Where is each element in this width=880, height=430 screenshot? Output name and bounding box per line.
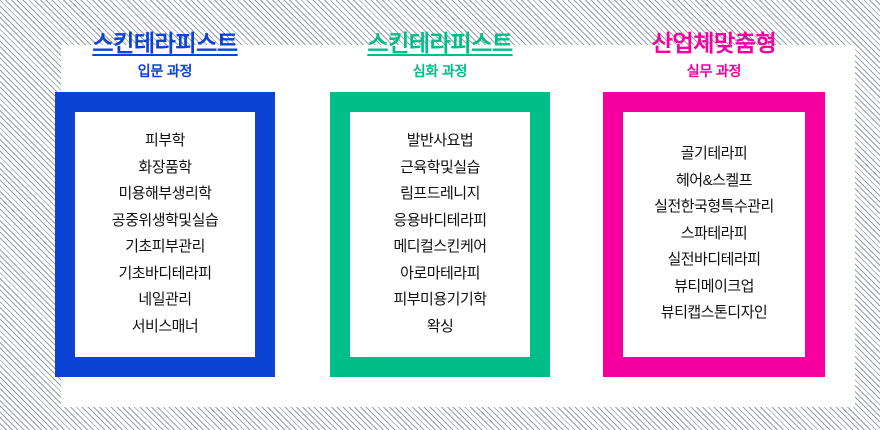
course-box: 피부학 화장품학 미용해부생리학 공중위생학및실습 기초피부관리 기초바디테라피… (55, 92, 275, 377)
course-item: 피부학 (75, 128, 255, 155)
course-item: 뷰티캡스톤디자인 (623, 300, 805, 327)
course-item: 왁싱 (350, 314, 530, 341)
course-item: 림프드레니지 (350, 181, 530, 208)
course-item: 서비스매너 (75, 314, 255, 341)
course-item: 화장품학 (75, 155, 255, 182)
course-item: 미용해부생리학 (75, 181, 255, 208)
course-item: 메디컬스킨케어 (350, 234, 530, 261)
curriculum-column-skin-therapist-advanced: 스킨테라피스트 심화 과정 발반사요법 근육학및실습 림프드레니지 응용바디테라… (330, 0, 550, 377)
column-subtitle: 심화 과정 (413, 63, 467, 80)
course-item: 응용바디테라피 (350, 208, 530, 235)
course-item: 네일관리 (75, 287, 255, 314)
course-box: 발반사요법 근육학및실습 림프드레니지 응용바디테라피 메디컬스킨케어 아로마테… (330, 92, 550, 377)
course-box: 골기테라피 헤어&스켈프 실전한국형특수관리 스파테라피 실전바디테라피 뷰티메… (603, 92, 825, 377)
column-title: 스킨테라피스트 (92, 31, 237, 57)
curriculum-columns: 스킨테라피스트 입문 과정 피부학 화장품학 미용해부생리학 공중위생학및실습 … (0, 0, 880, 430)
course-item: 실전한국형특수관리 (623, 194, 805, 221)
course-item: 실전바디테라피 (623, 247, 805, 274)
course-item: 스파테라피 (623, 221, 805, 248)
column-subtitle: 입문 과정 (138, 63, 192, 80)
course-list: 골기테라피 헤어&스켈프 실전한국형특수관리 스파테라피 실전바디테라피 뷰티메… (623, 141, 805, 327)
course-item: 기초피부관리 (75, 234, 255, 261)
course-item: 발반사요법 (350, 128, 530, 155)
course-item: 근육학및실습 (350, 155, 530, 182)
course-item: 피부미용기기학 (350, 287, 530, 314)
course-list: 발반사요법 근육학및실습 림프드레니지 응용바디테라피 메디컬스킨케어 아로마테… (350, 128, 530, 340)
curriculum-infographic: 스킨테라피스트 입문 과정 피부학 화장품학 미용해부생리학 공중위생학및실습 … (0, 0, 880, 430)
curriculum-column-skin-therapist-intro: 스킨테라피스트 입문 과정 피부학 화장품학 미용해부생리학 공중위생학및실습 … (55, 0, 275, 377)
course-item: 헤어&스켈프 (623, 168, 805, 195)
course-item: 뷰티메이크업 (623, 274, 805, 301)
course-list: 피부학 화장품학 미용해부생리학 공중위생학및실습 기초피부관리 기초바디테라피… (75, 128, 255, 340)
column-title: 산업체맞춤형 (652, 31, 777, 57)
column-subtitle: 실무 과정 (687, 63, 741, 80)
curriculum-column-industry-customized: 산업체맞춤형 실무 과정 골기테라피 헤어&스켈프 실전한국형특수관리 스파테라… (603, 0, 825, 377)
course-item: 공중위생학및실습 (75, 208, 255, 235)
column-title: 스킨테라피스트 (367, 31, 512, 57)
course-item: 기초바디테라피 (75, 261, 255, 288)
course-item: 아로마테라피 (350, 261, 530, 288)
course-item: 골기테라피 (623, 141, 805, 168)
